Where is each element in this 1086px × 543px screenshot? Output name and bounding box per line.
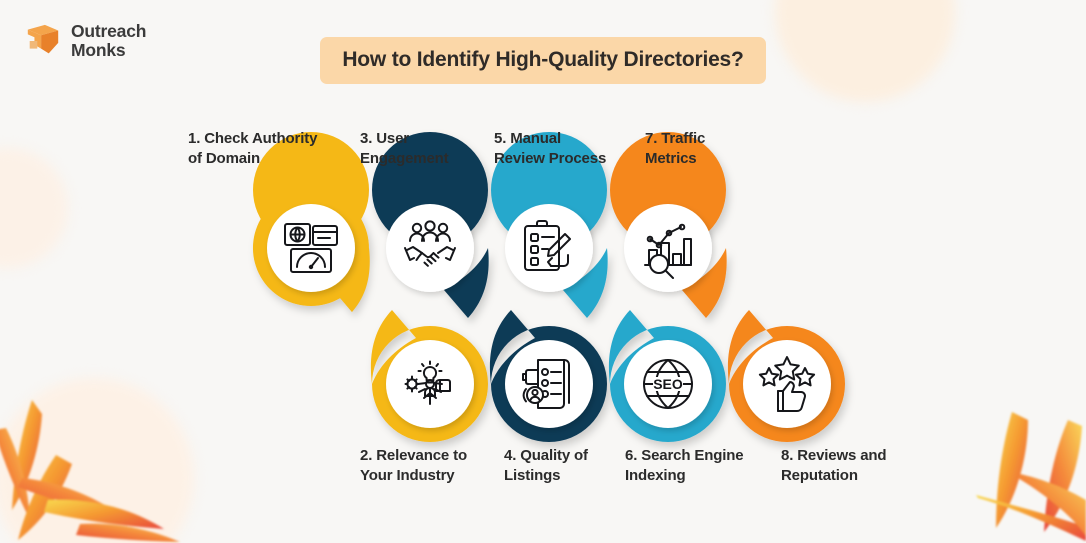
label-step-1: 1. Check Authority of Domain (188, 129, 348, 170)
label-step-3-line1: 3. User (360, 129, 480, 149)
label-step-5-line1: 5. Manual (494, 129, 634, 149)
label-step-2-line2: Your Industry (360, 466, 500, 486)
label-step-6-line2: Indexing (625, 466, 775, 486)
label-step-5-line2: Review Process (494, 149, 634, 169)
label-step-4-line2: Listings (504, 466, 634, 486)
label-step-8: 8. Reviews and Reputation (781, 446, 931, 487)
label-step-7-line1: 7. Traffic (645, 129, 755, 149)
label-step-7: 7. Traffic Metrics (645, 129, 755, 170)
label-step-8-line2: Reputation (781, 466, 931, 486)
label-step-4: 4. Quality of Listings (504, 446, 634, 487)
label-step-2: 2. Relevance to Your Industry (360, 446, 500, 487)
label-step-3: 3. User Engagement (360, 129, 480, 170)
page-title-wrapper: How to Identify High-Quality Directories… (0, 37, 1086, 84)
label-step-8-line1: 8. Reviews and (781, 446, 931, 466)
label-step-4-line1: 4. Quality of (504, 446, 634, 466)
label-step-6-line1: 6. Search Engine (625, 446, 775, 466)
label-step-3-line2: Engagement (360, 149, 480, 169)
page-title: How to Identify High-Quality Directories… (320, 37, 765, 84)
label-step-1-line1: 1. Check Authority (188, 129, 348, 149)
label-step-6: 6. Search Engine Indexing (625, 446, 775, 487)
infographic-canvas: Outreach Monks How to Identify High-Qual… (0, 0, 1086, 543)
label-step-7-line2: Metrics (645, 149, 755, 169)
label-step-5: 5. Manual Review Process (494, 129, 634, 170)
label-step-1-line2: of Domain (188, 149, 348, 169)
label-step-2-line1: 2. Relevance to (360, 446, 500, 466)
